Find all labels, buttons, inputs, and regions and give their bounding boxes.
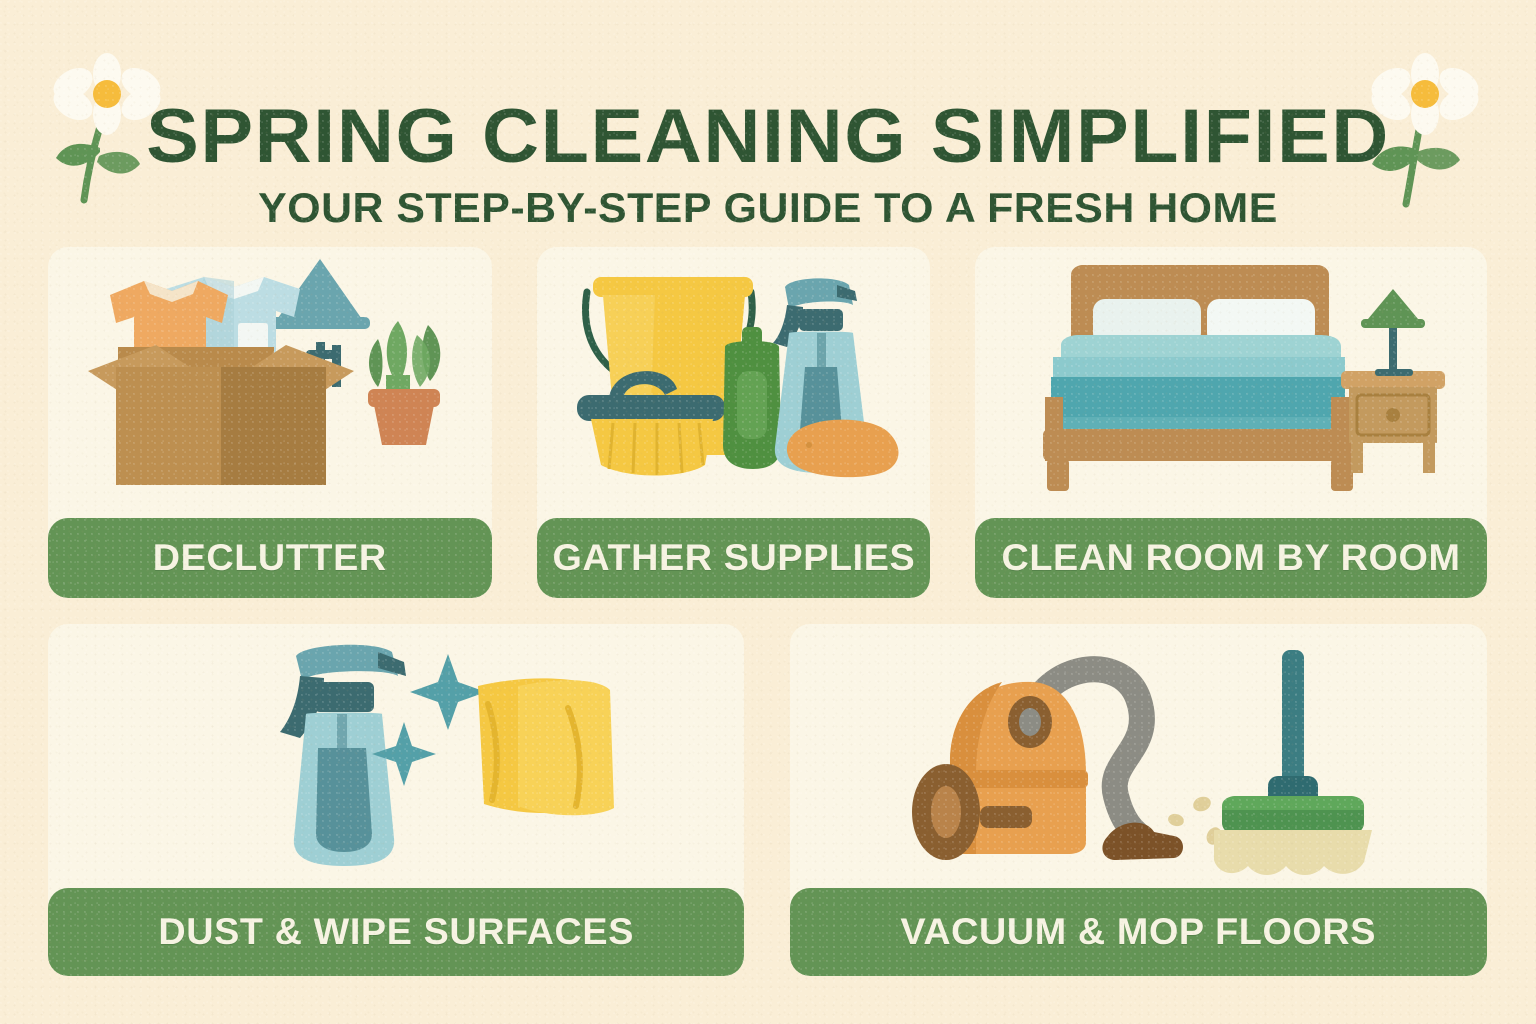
step-label: VACUUM & MOP FLOORS	[901, 911, 1377, 953]
step-label-bar: VACUUM & MOP FLOORS	[790, 888, 1487, 976]
step-label-bar: CLEAN ROOM BY ROOM	[975, 518, 1487, 598]
header: SPRING CLEANING SIMPLIFIED YOUR STEP-BY-…	[0, 0, 1536, 232]
gather-supplies-illustration	[537, 247, 930, 519]
step-label-bar: DECLUTTER	[48, 518, 492, 598]
step-card-declutter[interactable]: DECLUTTER	[48, 247, 492, 598]
step-card-gather-supplies[interactable]: GATHER SUPPLIES	[537, 247, 930, 598]
page-subtitle: YOUR STEP-BY-STEP GUIDE TO A FRESH HOME	[0, 187, 1536, 229]
bedroom-illustration	[975, 247, 1487, 519]
step-label: DECLUTTER	[153, 537, 387, 579]
step-label-bar: GATHER SUPPLIES	[537, 518, 930, 598]
declutter-illustration	[48, 247, 492, 519]
step-label: GATHER SUPPLIES	[552, 537, 915, 579]
step-label: DUST & WIPE SURFACES	[158, 911, 634, 953]
vacuum-mop-illustration	[790, 624, 1487, 888]
step-card-clean-room-by-room[interactable]: CLEAN ROOM BY ROOM	[975, 247, 1487, 598]
page-title: SPRING CLEANING SIMPLIFIED	[0, 99, 1536, 175]
daisy-flower-icon	[1360, 52, 1490, 212]
step-card-vacuum-and-mop[interactable]: VACUUM & MOP FLOORS	[790, 624, 1487, 976]
dust-wipe-illustration	[48, 624, 744, 888]
step-label-bar: DUST & WIPE SURFACES	[48, 888, 744, 976]
step-label: CLEAN ROOM BY ROOM	[1001, 537, 1460, 579]
step-card-dust-and-wipe[interactable]: DUST & WIPE SURFACES	[48, 624, 744, 976]
